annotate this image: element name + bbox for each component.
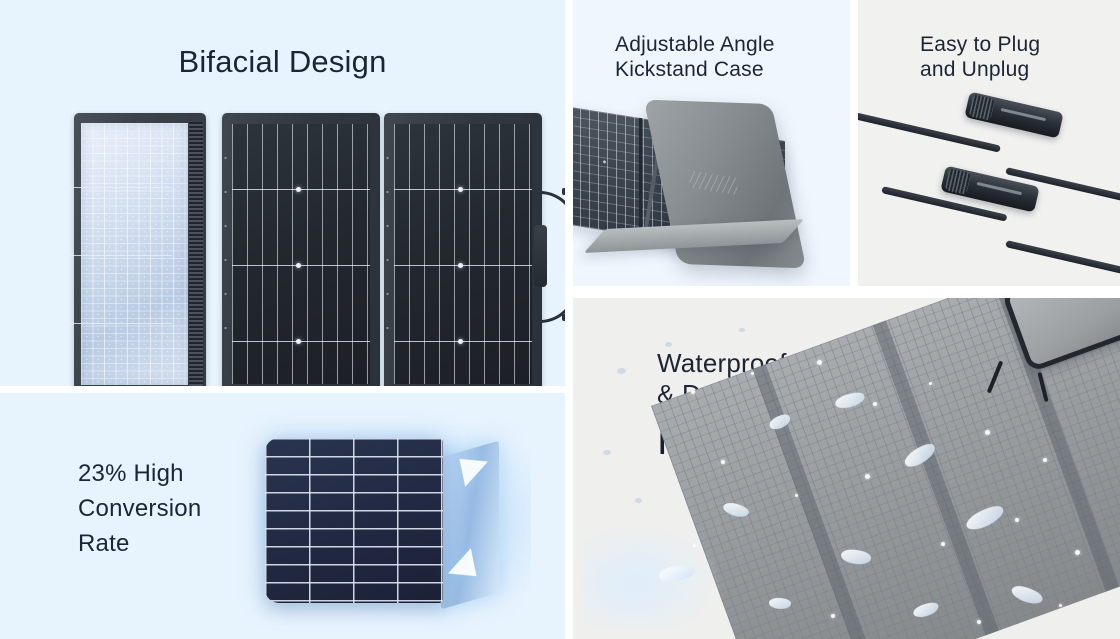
water-droplet <box>985 430 990 435</box>
busbar <box>232 341 370 342</box>
panel-waterproof-ip68: Waterproof & Durable IP68 <box>573 298 1120 639</box>
water-mist <box>665 342 672 347</box>
water-droplet <box>865 474 870 479</box>
connector-grip-ribs <box>969 94 995 120</box>
water-droplet <box>751 372 754 375</box>
folded-solar-panel-illustration <box>72 113 517 386</box>
water-droplet <box>693 544 696 547</box>
busbar <box>394 189 532 190</box>
busbar <box>394 265 532 266</box>
feature-grid-board: Bifacial Design <box>0 0 1120 639</box>
bifacial-design-title: Bifacial Design <box>0 44 565 81</box>
mono-cell-array <box>232 124 370 384</box>
panel-seam <box>873 320 999 635</box>
water-droplet <box>691 390 695 394</box>
mc4-connector-male <box>964 92 1063 139</box>
busbar <box>65 255 172 256</box>
solar-leaf-bifacial-back <box>74 113 206 386</box>
output-cable-assembly <box>534 185 565 323</box>
solar-leaf-front-middle <box>222 113 380 386</box>
solar-cable <box>1005 240 1120 276</box>
bifacial-cell-glass <box>81 123 188 385</box>
water-mist <box>617 368 626 374</box>
cell-node <box>603 160 606 163</box>
water-droplet <box>831 614 835 618</box>
mono-cell-array <box>394 124 532 384</box>
cell-dot-matrix <box>81 123 188 385</box>
hinge-rivets <box>386 141 389 361</box>
solar-leaf-front-right <box>384 113 542 386</box>
water-droplet <box>721 460 725 464</box>
hinge-rivets <box>224 141 227 361</box>
mono-cell-face <box>265 438 443 603</box>
cable-loop <box>540 191 565 323</box>
water-droplet <box>1043 458 1047 462</box>
busbar <box>65 187 172 188</box>
conversion-rate-title: 23% High Conversion Rate <box>78 457 201 561</box>
kickstand-illustration <box>577 96 845 281</box>
panel-conversion-rate: 23% High Conversion Rate <box>0 393 565 639</box>
cell-node <box>458 187 463 192</box>
water-droplet <box>1075 550 1080 555</box>
panel-adjustable-kickstand: Adjustable Angle Kickstand Case <box>573 0 850 286</box>
water-mist <box>635 498 642 503</box>
water-droplet <box>941 542 945 546</box>
cell-node <box>296 339 301 344</box>
busbar <box>232 265 370 266</box>
water-droplet <box>795 494 798 497</box>
busbar <box>65 323 172 324</box>
cell-node <box>296 187 301 192</box>
water-droplet <box>977 620 981 624</box>
connector-grip-ribs <box>945 168 971 194</box>
busbar <box>232 189 370 190</box>
water-droplet <box>1015 518 1019 522</box>
panel-bifacial-design: Bifacial Design <box>0 0 565 386</box>
cell-node <box>296 263 301 268</box>
kickstand-title: Adjustable Angle Kickstand Case <box>615 33 775 83</box>
hinge-vent-strip <box>189 122 203 386</box>
connector-highlight <box>977 182 1022 195</box>
mc4-connector-illustration <box>858 0 1120 286</box>
water-droplet <box>873 402 877 406</box>
solar-cell-illustration <box>255 433 515 608</box>
panel-seam <box>752 364 878 639</box>
panel-easy-plug-unplug: Easy to Plug and Unplug <box>858 0 1120 286</box>
busbar <box>394 341 532 342</box>
cell-node <box>458 263 463 268</box>
cell-node <box>458 339 463 344</box>
water-droplet <box>1059 604 1062 607</box>
embossed-logo <box>689 170 738 195</box>
connector-highlight <box>1001 108 1046 121</box>
panel-seam <box>639 118 642 236</box>
water-splash-burst <box>583 512 733 630</box>
water-droplet <box>929 382 932 385</box>
water-mist <box>739 328 745 332</box>
water-droplet <box>817 360 822 365</box>
water-mist <box>603 450 611 455</box>
